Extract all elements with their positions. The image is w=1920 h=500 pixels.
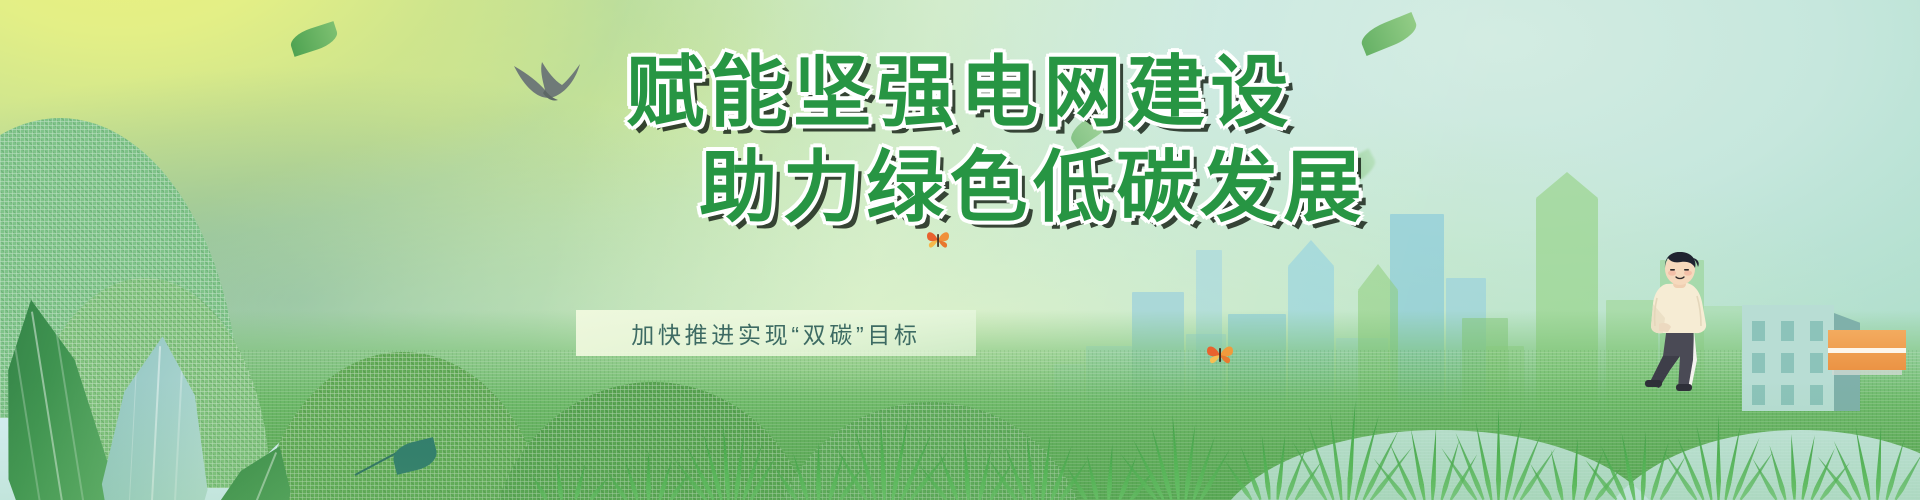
grass-blade [1571,438,1580,500]
building-window [1781,353,1794,373]
grass-blade [589,476,611,500]
butterfly-center [925,228,951,252]
building-window [1810,385,1823,405]
grass-blade [1809,447,1837,500]
grass-cluster [860,398,930,500]
grass-blade [1788,434,1796,500]
grass-blade [1893,451,1920,500]
grass-blade [1716,414,1721,500]
walking-person [1637,252,1723,392]
grass-layer [0,0,1920,500]
grass-blade [700,432,723,500]
grass-blade [668,470,691,500]
grass-blade [1284,446,1308,500]
grass-blade [530,474,549,500]
grass-blade [816,442,821,500]
grass-blade [1275,435,1288,500]
butterfly-lower-right [1205,342,1235,368]
grass-blade [1084,453,1099,500]
building-window [1752,353,1765,373]
grass-cluster [1320,390,1390,500]
grass-blade [1496,408,1501,500]
grass-blade [1387,441,1418,500]
grass-blade [1170,414,1181,500]
building-window [1752,385,1765,405]
grass-blade [1148,425,1173,500]
grass-blade [1346,400,1358,500]
building-window [1810,353,1823,373]
grass-blade [1875,425,1884,500]
grass-blade [554,462,564,500]
grass-blade [721,422,731,500]
grass-cluster [620,440,690,500]
grass-blade [657,459,674,500]
grass-blade [962,436,971,500]
grass-blade [1238,446,1262,500]
building-window [1781,321,1794,341]
swallow-bird-icon [512,60,582,106]
grass-cluster [790,432,860,500]
grass-blade [1548,449,1565,500]
grass-cluster [540,448,610,500]
grass-cluster [1470,398,1540,500]
building-window [1752,321,1765,341]
grass-blade [977,447,994,500]
grass-blade [741,441,765,500]
grass-blade [1024,433,1037,500]
grass-blade [1259,435,1272,500]
building-window [1781,385,1794,405]
grass-blade [1884,437,1907,500]
grass-cluster [1080,434,1150,500]
grass-blade [1640,431,1648,500]
grass-cluster [1010,418,1080,500]
grass-blade [1503,419,1524,500]
grass-cluster [1150,404,1220,500]
grass-blade [877,414,886,500]
grass-blade [1106,444,1115,500]
grass-cluster [1245,420,1315,500]
orange-bench [1828,330,1906,374]
grass-blade [1430,427,1439,500]
grass-blade [623,459,640,500]
grass-cluster [940,426,1010,500]
building-window [1810,321,1823,341]
grass-cluster [1845,410,1915,500]
grass-blade [1040,433,1053,500]
grass-blade [772,466,798,500]
eco-grid-banner: 赋能坚强电网建设 助力绿色低碳发展 加快推进实现“双碳”目标 [0,0,1920,500]
grass-cluster [1545,428,1615,500]
grass-blade [1223,459,1254,500]
grass-cluster [1770,420,1840,500]
subtitle-bar: 加快推进实现“双碳”目标 [576,310,976,356]
grass-blade [1473,419,1494,500]
grass-cluster [700,412,770,500]
grass-blade [573,463,588,500]
grass-cluster [1400,412,1470,500]
subtitle-text: 加快推进实现“双碳”目标 [631,316,920,350]
grass-cluster [1610,416,1680,500]
grass-cluster [1690,404,1760,500]
grass-blade [646,450,651,500]
